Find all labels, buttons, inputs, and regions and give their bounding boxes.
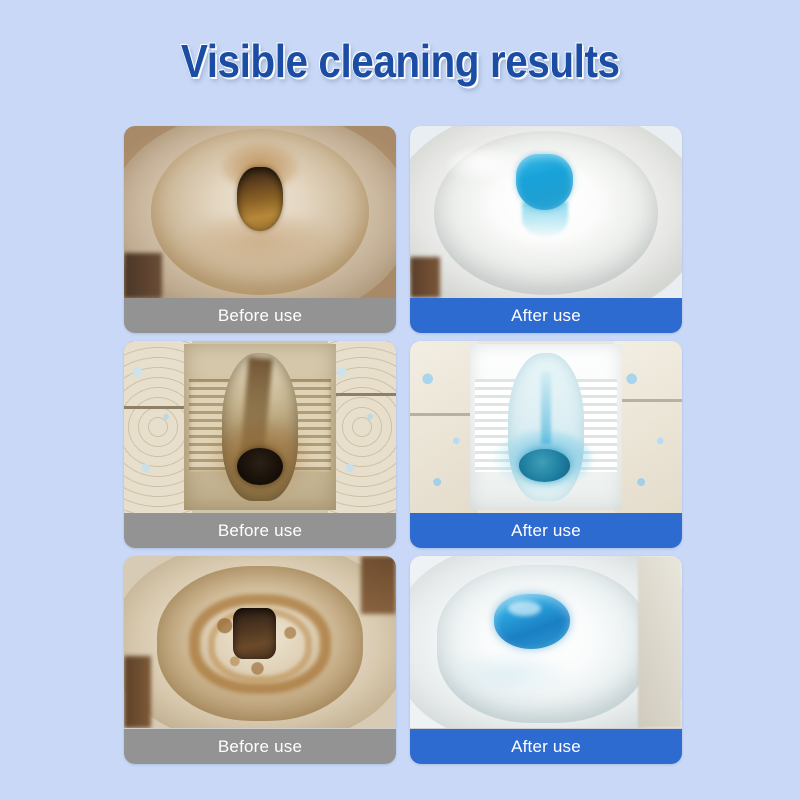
toilet-clean-pool-image xyxy=(410,556,682,728)
tile-floor-left xyxy=(124,341,192,513)
caption-after-1: After use xyxy=(410,298,682,333)
floor-edge-left xyxy=(124,656,151,728)
comparison-card-before-1[interactable]: Before use xyxy=(124,126,396,333)
comparison-card-after-2[interactable]: After use xyxy=(410,341,682,548)
caption-before-1: Before use xyxy=(124,298,396,333)
grout-line xyxy=(614,399,682,402)
toilet-bowl-stained-image xyxy=(124,126,396,298)
floor-edge xyxy=(124,253,162,298)
photo-after-3 xyxy=(410,556,682,728)
toilet-limescale-image xyxy=(124,556,396,728)
photo-before-1 xyxy=(124,126,396,298)
drain-hole xyxy=(233,608,277,660)
photo-before-3 xyxy=(124,556,396,728)
photo-after-1 xyxy=(410,126,682,298)
page-title-container: Visible cleaning results xyxy=(0,34,800,88)
comparison-card-after-1[interactable]: After use xyxy=(410,126,682,333)
liquid-highlight xyxy=(508,601,541,616)
drain-hole xyxy=(237,167,283,231)
tile-floor-right xyxy=(614,341,682,513)
toilet-bowl-clean-image xyxy=(410,126,682,298)
photo-before-2 xyxy=(124,341,396,513)
floor-edge xyxy=(410,257,440,298)
grout-line xyxy=(328,393,396,396)
drain-hole xyxy=(519,449,571,482)
grout-line xyxy=(410,413,478,416)
comparison-card-before-3[interactable]: Before use xyxy=(124,556,396,764)
caption-after-2: After use xyxy=(410,513,682,548)
comparison-grid: Before use After use xyxy=(124,126,682,764)
bowl-sheen xyxy=(454,652,574,697)
grout-line xyxy=(124,406,192,409)
caption-before-2: Before use xyxy=(124,513,396,548)
caption-after-3: After use xyxy=(410,729,682,764)
comparison-card-after-3[interactable]: After use xyxy=(410,556,682,764)
tile-floor-right xyxy=(328,341,396,513)
squat-toilet-clean-image xyxy=(410,341,682,513)
comparison-card-before-2[interactable]: Before use xyxy=(124,341,396,548)
squat-toilet-stained-image xyxy=(124,341,396,513)
floor-edge-right xyxy=(361,556,396,614)
page-title: Visible cleaning results xyxy=(181,34,620,88)
caption-before-3: Before use xyxy=(124,729,396,764)
bowl-outer-edge xyxy=(638,556,682,728)
photo-after-2 xyxy=(410,341,682,513)
tile-floor-left xyxy=(410,341,478,513)
